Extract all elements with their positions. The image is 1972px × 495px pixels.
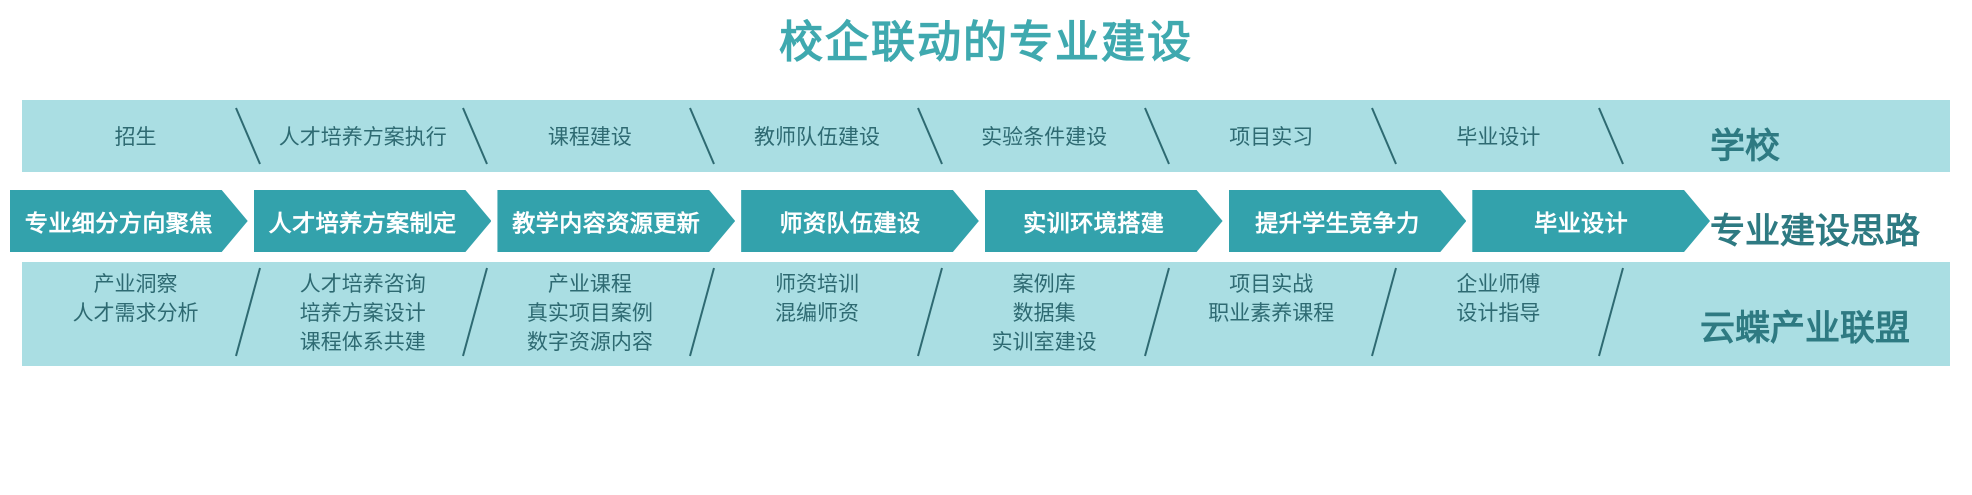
alliance-stage-7: 企业师傅 设计指导 bbox=[1385, 262, 1612, 366]
school-row-label: 学校 bbox=[1710, 118, 1780, 169]
page-title: 校企联动的专业建设 bbox=[0, 14, 1972, 72]
alliance-stage-2-line-3: 课程体系共建 bbox=[300, 328, 426, 357]
school-stage-2-label: 人才培养方案执行 bbox=[279, 121, 447, 151]
school-stage-1: 招生 bbox=[22, 100, 249, 172]
school-stage-4-label: 教师队伍建设 bbox=[754, 121, 880, 151]
separator-slash-icon bbox=[1596, 264, 1626, 364]
alliance-row-cells: 产业洞察 人才需求分析 人才培养咨询 培养方案设计 课程体系共建 产业课程 真实… bbox=[22, 262, 1612, 366]
alliance-row-band: 产业洞察 人才需求分析 人才培养咨询 培养方案设计 课程体系共建 产业课程 真实… bbox=[22, 262, 1950, 366]
school-row-cells: 招生 人才培养方案执行 课程建设 教师队伍建设 实验条件建设 bbox=[22, 100, 1612, 172]
alliance-stage-4: 师资培训 混编师资 bbox=[703, 262, 930, 366]
alliance-stage-7-line-1: 企业师傅 bbox=[1456, 270, 1540, 299]
alliance-stage-2-line-2: 培养方案设计 bbox=[300, 299, 426, 328]
strategy-step-2[interactable]: 人才培养方案制定 bbox=[254, 190, 492, 252]
alliance-stage-2: 人才培养咨询 培养方案设计 课程体系共建 bbox=[249, 262, 476, 366]
strategy-step-5[interactable]: 实训环境搭建 bbox=[985, 190, 1223, 252]
alliance-stage-3: 产业课程 真实项目案例 数字资源内容 bbox=[476, 262, 703, 366]
separator-slash-icon bbox=[1596, 104, 1626, 168]
school-stage-5-label: 实验条件建设 bbox=[981, 121, 1107, 151]
alliance-stage-1-line-2: 人才需求分析 bbox=[73, 299, 199, 328]
school-stage-7-label: 毕业设计 bbox=[1456, 121, 1540, 151]
alliance-stage-1-line-1: 产业洞察 bbox=[94, 270, 178, 299]
alliance-stage-5: 案例库 数据集 实训室建设 bbox=[931, 262, 1158, 366]
alliance-stage-6-line-1: 项目实战 bbox=[1229, 270, 1313, 299]
strategy-step-1[interactable]: 专业细分方向聚焦 bbox=[10, 190, 248, 252]
alliance-stage-6-line-2: 职业素养课程 bbox=[1208, 299, 1334, 328]
school-stage-3: 课程建设 bbox=[476, 100, 703, 172]
alliance-stage-2-line-1: 人才培养咨询 bbox=[300, 270, 426, 299]
alliance-stage-5-line-1: 案例库 bbox=[1013, 270, 1076, 299]
alliance-stage-1: 产业洞察 人才需求分析 bbox=[22, 262, 249, 366]
alliance-stage-3-line-2: 真实项目案例 bbox=[527, 299, 653, 328]
strategy-row-label: 专业建设思路 bbox=[1710, 203, 1920, 254]
alliance-stage-7-line-2: 设计指导 bbox=[1456, 299, 1540, 328]
school-row-band: 招生 人才培养方案执行 课程建设 教师队伍建设 实验条件建设 bbox=[22, 100, 1950, 172]
alliance-stage-3-line-3: 数字资源内容 bbox=[527, 328, 653, 357]
strategy-step-6[interactable]: 提升学生竞争力 bbox=[1229, 190, 1467, 252]
school-stage-7: 毕业设计 bbox=[1385, 100, 1612, 172]
strategy-step-3[interactable]: 教学内容资源更新 bbox=[497, 190, 735, 252]
school-stage-5: 实验条件建设 bbox=[931, 100, 1158, 172]
alliance-stage-4-line-1: 师资培训 bbox=[775, 270, 859, 299]
strategy-step-4[interactable]: 师资队伍建设 bbox=[741, 190, 979, 252]
school-stage-2: 人才培养方案执行 bbox=[249, 100, 476, 172]
school-stage-4: 教师队伍建设 bbox=[703, 100, 930, 172]
alliance-row-label: 云蝶产业联盟 bbox=[1700, 300, 1910, 351]
alliance-stage-5-line-2: 数据集 bbox=[1013, 299, 1076, 328]
alliance-stage-6: 项目实战 职业素养课程 bbox=[1158, 262, 1385, 366]
school-stage-6: 项目实习 bbox=[1158, 100, 1385, 172]
strategy-step-7[interactable]: 毕业设计 bbox=[1472, 190, 1710, 252]
school-stage-1-label: 招生 bbox=[115, 121, 157, 151]
alliance-stage-5-line-3: 实训室建设 bbox=[992, 328, 1097, 357]
school-stage-3-label: 课程建设 bbox=[548, 121, 632, 151]
alliance-stage-3-line-1: 产业课程 bbox=[548, 270, 632, 299]
school-stage-6-label: 项目实习 bbox=[1229, 121, 1313, 151]
alliance-stage-4-line-2: 混编师资 bbox=[775, 299, 859, 328]
strategy-chevron-row: 专业细分方向聚焦 人才培养方案制定 教学内容资源更新 师资队伍建设 实训环境搭建… bbox=[10, 190, 1710, 252]
